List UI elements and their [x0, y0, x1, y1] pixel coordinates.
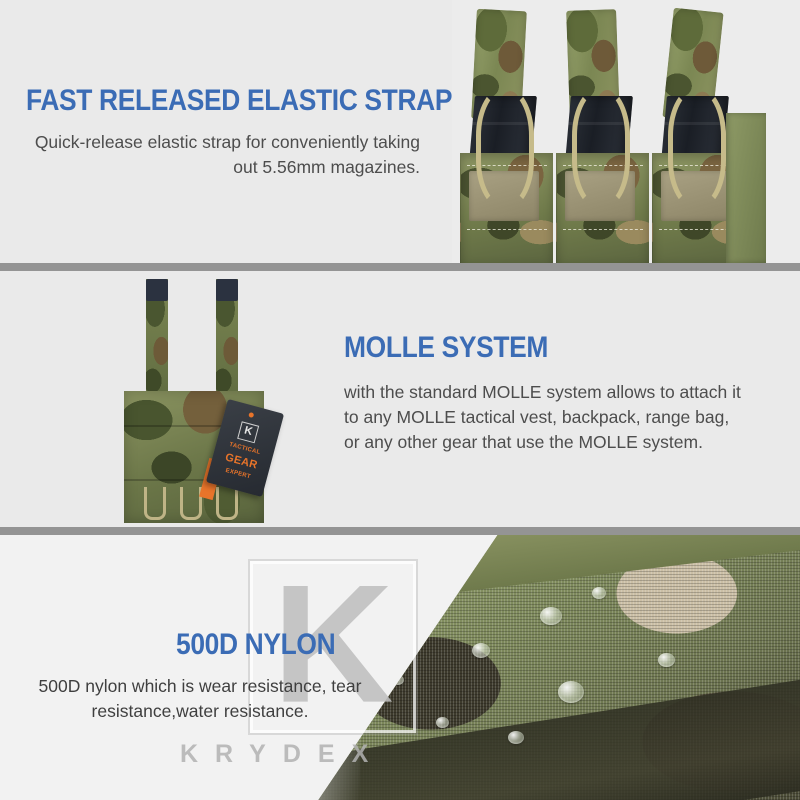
stitch-line [467, 229, 547, 230]
feature-heading: 500D NYLON [176, 630, 373, 660]
elastic-pull-cord [476, 86, 534, 210]
panel-divider [0, 263, 800, 271]
product-photo-magazine-pouch-front [452, 0, 800, 263]
feature-body: with the standard MOLLE system allows to… [344, 380, 744, 455]
water-droplet [658, 653, 675, 667]
water-droplet [472, 643, 490, 658]
mag-pouch-column [460, 0, 552, 263]
water-droplet [558, 681, 584, 703]
water-droplet [592, 587, 606, 599]
webbing-band [240, 535, 800, 625]
feature-body: Quick-release elastic strap for convenie… [26, 130, 420, 180]
product-photo-pouch-back-molle: K TACTICAL GEAR EXPERT [118, 273, 338, 525]
water-droplet [540, 607, 562, 625]
elastic-cord-loop [144, 487, 166, 520]
elastic-cord-loop [180, 487, 202, 520]
feature-body: 500D nylon which is wear resistance, tea… [0, 674, 400, 724]
molle-strap [216, 279, 238, 403]
krydex-logo-icon: K [237, 421, 259, 443]
feature-text-block: MOLLE SYSTEM with the standard MOLLE sys… [344, 333, 744, 455]
water-droplet [436, 717, 449, 728]
elastic-cord-loop [216, 487, 238, 520]
feature-text-block: 500D NYLON 500D nylon which is wear resi… [0, 630, 400, 724]
feature-heading: MOLLE SYSTEM [344, 333, 696, 363]
water-droplet [508, 731, 524, 744]
molle-strap [146, 279, 168, 403]
feature-heading: FAST RELEASED ELASTIC STRAP [26, 86, 373, 116]
infographic-page: FAST RELEASED ELASTIC STRAP Quick-releas… [0, 0, 800, 800]
hangtag-text: TACTICAL GEAR EXPERT [215, 439, 268, 484]
elastic-pull-cord [668, 86, 726, 210]
feature-panel-elastic-strap: FAST RELEASED ELASTIC STRAP Quick-releas… [0, 0, 800, 263]
pouch-side-panel [726, 113, 766, 263]
elastic-pull-cord [572, 86, 630, 210]
hangtag-eyelet [248, 412, 254, 418]
panel-divider [0, 527, 800, 535]
feature-panel-molle-system: K TACTICAL GEAR EXPERT MOLLE SYSTEM with… [0, 271, 800, 527]
stitch-line [563, 229, 643, 230]
feature-text-block: FAST RELEASED ELASTIC STRAP Quick-releas… [26, 86, 420, 180]
mag-pouch-column [556, 0, 648, 263]
feature-panel-500d-nylon: 500D NYLON 500D nylon which is wear resi… [0, 535, 800, 800]
